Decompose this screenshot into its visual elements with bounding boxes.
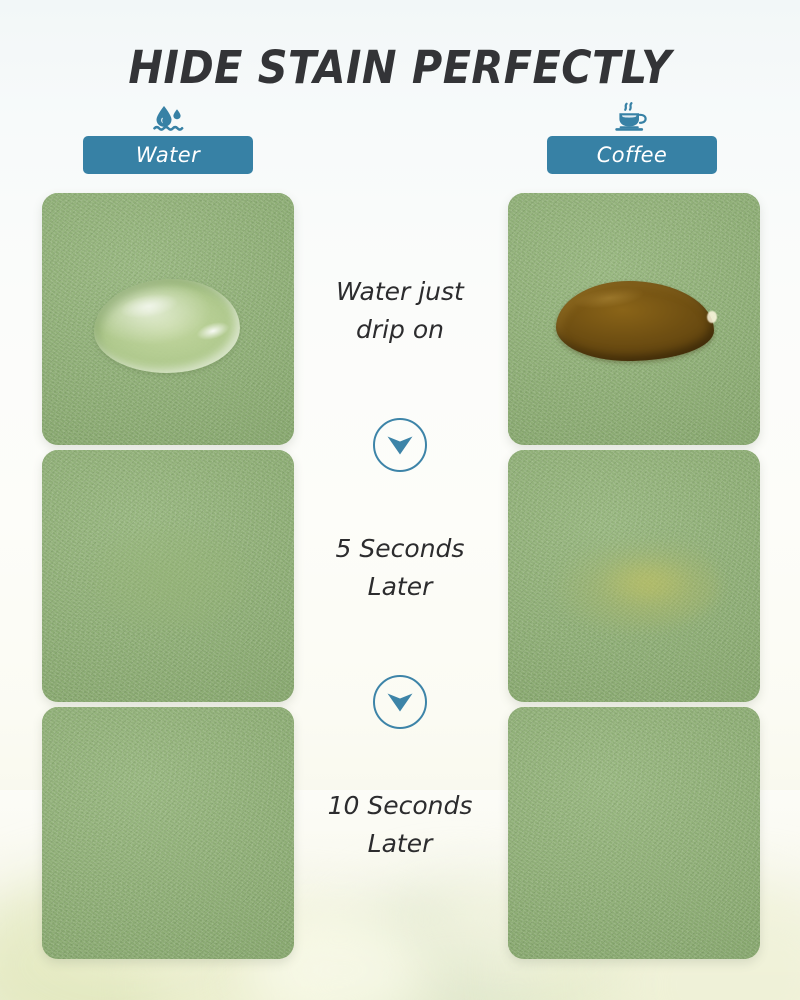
arrow-1 xyxy=(373,418,427,472)
water-drop-icon xyxy=(151,104,185,134)
badge-water[interactable]: Water xyxy=(83,136,253,174)
fabric-texture xyxy=(42,450,294,702)
fabric-texture xyxy=(508,707,760,959)
panel-coffee-5s[interactable] xyxy=(508,450,760,702)
fabric-texture xyxy=(42,193,294,445)
chevron-down-icon xyxy=(373,418,427,472)
fabric-texture xyxy=(508,193,760,445)
fabric-texture xyxy=(42,707,294,959)
panel-coffee-10s[interactable] xyxy=(508,707,760,959)
fabric-texture xyxy=(508,450,760,702)
badge-coffee[interactable]: Coffee xyxy=(547,136,717,174)
panel-water-10s[interactable] xyxy=(42,707,294,959)
step-label-2-line2: Later xyxy=(300,568,500,606)
infographic-root: HIDE STAIN PERFECTLY Water C xyxy=(0,0,800,1000)
page-title: HIDE STAIN PERFECTLY xyxy=(32,40,768,96)
step-label-3-line1: 10 Seconds xyxy=(300,787,500,825)
step-label-1-line1: Water just xyxy=(300,273,500,311)
step-label-3: 10 Seconds Later xyxy=(300,787,500,863)
column-header-coffee: Coffee xyxy=(507,104,757,174)
coffee-cup-icon xyxy=(613,104,651,134)
panel-water-5s[interactable] xyxy=(42,450,294,702)
step-label-2: 5 Seconds Later xyxy=(300,530,500,606)
center-step-column: Water just drip on 5 Seconds Later 10 Se… xyxy=(300,193,500,959)
chevron-down-icon xyxy=(373,675,427,729)
step-label-1: Water just drip on xyxy=(300,273,500,349)
step-label-1-line2: drip on xyxy=(300,311,500,349)
column-header-water: Water xyxy=(43,104,293,174)
panel-coffee-0s[interactable] xyxy=(508,193,760,445)
step-label-2-line1: 5 Seconds xyxy=(300,530,500,568)
panel-water-0s[interactable] xyxy=(42,193,294,445)
arrow-2 xyxy=(373,675,427,729)
step-label-3-line2: Later xyxy=(300,825,500,863)
